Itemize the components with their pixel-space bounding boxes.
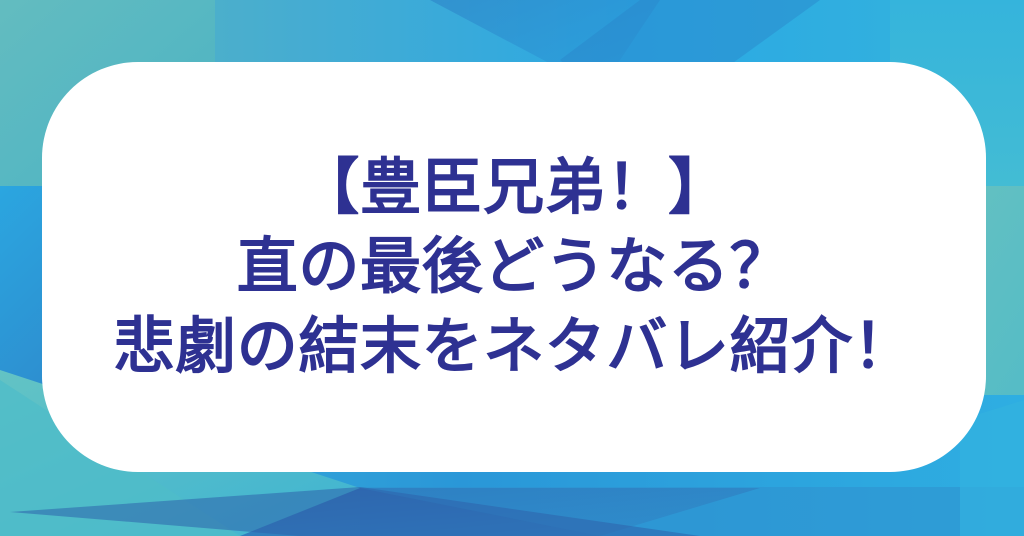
title-block: 【豊臣兄弟！】 直の最後どうなる？ 悲劇の結末をネタバレ紹介！	[42, 148, 986, 386]
eyecatch-canvas: 【豊臣兄弟！】 直の最後どうなる？ 悲劇の結末をネタバレ紹介！	[0, 0, 1024, 536]
title-line-3: 悲劇の結末をネタバレ紹介！	[60, 307, 968, 386]
title-line-1: 【豊臣兄弟！】	[60, 148, 968, 227]
title-card: 【豊臣兄弟！】 直の最後どうなる？ 悲劇の結末をネタバレ紹介！	[42, 62, 986, 472]
title-line-2: 直の最後どうなる？	[60, 227, 968, 306]
